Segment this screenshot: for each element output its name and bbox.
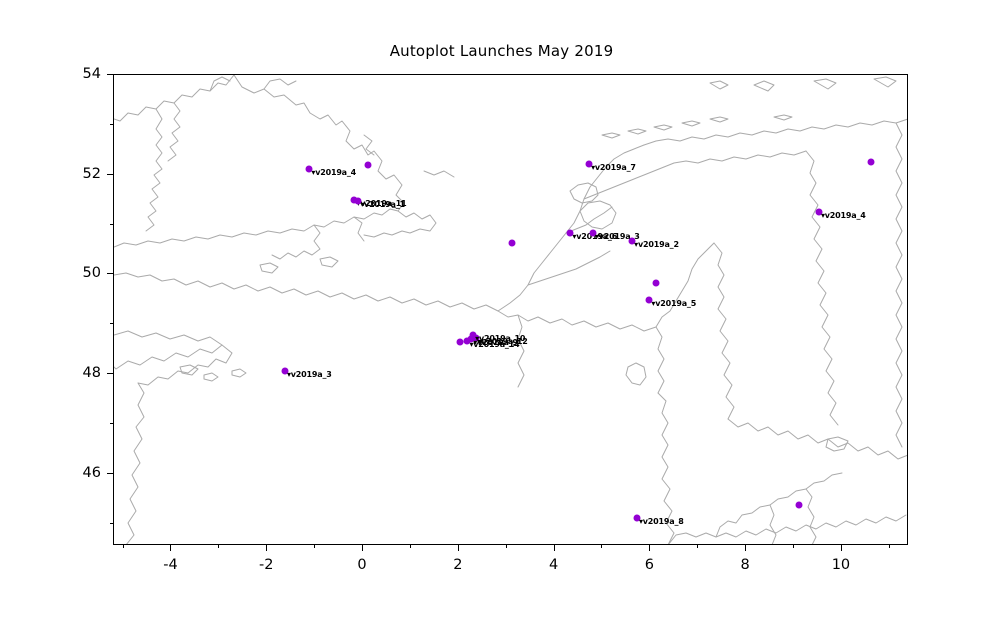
x-tick-mark — [123, 545, 124, 548]
chart-title: Autoplot Launches May 2019 — [0, 42, 1003, 60]
x-tick-label: 6 — [645, 557, 654, 573]
x-tick-mark — [266, 545, 267, 551]
x-tick-mark — [601, 545, 602, 548]
scatter-point-label: ▾v2019a_3 — [287, 370, 332, 379]
y-tick-mark — [107, 373, 113, 374]
x-tick-mark — [218, 545, 219, 548]
x-tick-mark — [889, 545, 890, 548]
x-tick-mark — [697, 545, 698, 548]
x-tick-mark — [793, 545, 794, 548]
y-tick-mark — [107, 174, 113, 175]
scatter-point — [456, 339, 463, 346]
x-tick-label: -2 — [259, 557, 273, 573]
x-tick-label: -4 — [163, 557, 177, 573]
x-tick-mark — [506, 545, 507, 548]
scatter-point — [867, 159, 874, 166]
scatter-points-layer: ▾v2019a_4▾v2019a_11▾v2019a_1▾v2019a_7▾v2… — [114, 75, 908, 545]
scatter-point-label: ▾v2019a_5 — [651, 299, 696, 308]
y-tick-label: 54 — [71, 66, 101, 82]
x-tick-label: 8 — [741, 557, 750, 573]
y-tick-label: 48 — [71, 365, 101, 381]
y-tick-label: 46 — [71, 465, 101, 481]
scatter-point-label: ▾v2019a_2 — [634, 240, 679, 249]
figure-canvas: Autoplot Launches May 2019 — [0, 0, 1003, 633]
y-tick-label: 52 — [71, 166, 101, 182]
x-tick-mark — [745, 545, 746, 551]
x-tick-mark — [841, 545, 842, 551]
x-tick-mark — [458, 545, 459, 551]
scatter-point — [795, 501, 802, 508]
y-tick-mark — [110, 323, 113, 324]
scatter-point-label: ▾v2019a_7 — [591, 163, 636, 172]
scatter-point — [509, 240, 516, 247]
x-tick-label: 2 — [453, 557, 462, 573]
scatter-point-label: ▾v2019a_4 — [821, 211, 866, 220]
y-tick-mark — [107, 273, 113, 274]
scatter-point-label: ▾v2019a_8 — [639, 517, 684, 526]
y-tick-mark — [107, 74, 113, 75]
y-tick-mark — [110, 224, 113, 225]
x-tick-mark — [554, 545, 555, 551]
y-tick-mark — [110, 124, 113, 125]
scatter-point-label: ▾v2019a_4 — [311, 168, 356, 177]
plot-area: ▾v2019a_4▾v2019a_11▾v2019a_1▾v2019a_7▾v2… — [113, 74, 908, 545]
x-tick-mark — [362, 545, 363, 551]
x-tick-mark — [170, 545, 171, 551]
x-tick-label: 4 — [549, 557, 558, 573]
x-tick-label: 0 — [357, 557, 366, 573]
scatter-point — [653, 280, 660, 287]
scatter-point-label: ▾v2019a_14 — [469, 340, 519, 349]
y-tick-mark — [110, 423, 113, 424]
scatter-point-label: ▾v2019a_1 — [360, 200, 405, 209]
y-tick-label: 50 — [71, 265, 101, 281]
x-tick-mark — [314, 545, 315, 548]
x-tick-label: 10 — [832, 557, 850, 573]
x-tick-mark — [410, 545, 411, 548]
scatter-point — [364, 161, 371, 168]
y-tick-mark — [107, 473, 113, 474]
x-tick-mark — [649, 545, 650, 551]
y-tick-mark — [110, 523, 113, 524]
